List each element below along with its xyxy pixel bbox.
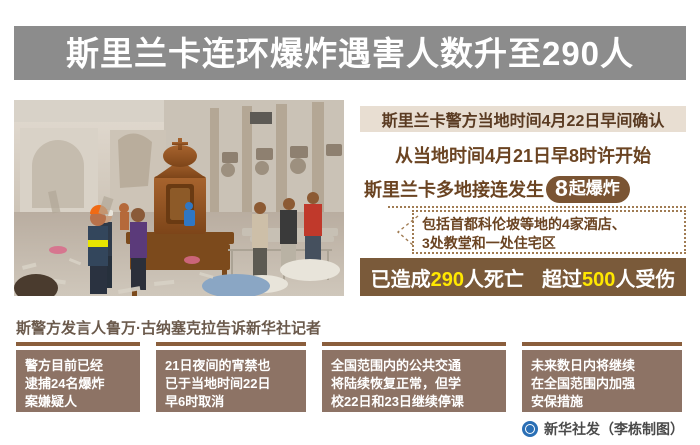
info-box-1-body: 警方目前已经 逮捕24名爆炸 案嫌疑人 xyxy=(16,350,140,412)
info-box-3-line-1: 全国范围内的公共交通 xyxy=(331,357,498,375)
xinhua-logo-icon xyxy=(522,421,538,437)
panel-line-1: 从当地时间4月21日早8时许开始 xyxy=(360,140,686,170)
panel-header-band: 斯里兰卡警方当地时间4月22日早间确认 xyxy=(360,106,686,132)
info-box-2-accent xyxy=(156,342,306,346)
targets-callout-box: 包括首都科伦坡等地的4家酒店、 3处教堂和一处住宅区 xyxy=(412,210,686,254)
info-box-3-line-3: 校22日和23日继续停课 xyxy=(331,393,498,411)
deaths-suffix: 人死亡 xyxy=(464,269,524,291)
spokesperson-quote-line: 斯警方发言人鲁万·古纳塞克拉告诉新华社记者 xyxy=(16,316,576,338)
info-box-4: 未来数日内将继续 在全国范围内加强 安保措施 xyxy=(522,342,682,412)
panel-header-text: 斯里兰卡警方当地时间4月22日早间确认 xyxy=(382,107,665,131)
footer-credit: 新华社发（李栋制图） xyxy=(522,418,684,440)
panel-line-1-text: 从当地时间4月21日早8时许开始 xyxy=(395,142,651,168)
news-photo xyxy=(14,100,344,296)
panel-line-2: 斯里兰卡多地接连发生 8 起爆炸 xyxy=(356,172,690,206)
info-box-2-line-3: 早6时取消 xyxy=(165,393,298,411)
info-box-4-line-2: 在全国范围内加强 xyxy=(531,375,674,393)
info-box-3-body: 全国范围内的公共交通 将陆续恢复正常，但学 校22日和23日继续停课 xyxy=(322,350,506,412)
injuries-stat: 超过500人受伤 xyxy=(542,263,675,292)
info-box-1-line-1: 警方目前已经 xyxy=(25,357,132,375)
dotted-separator xyxy=(388,206,686,208)
explosions-count-badge: 8 起爆炸 xyxy=(546,176,630,203)
explosions-count-number: 8 xyxy=(555,177,568,200)
deaths-stat: 已造成290人死亡 xyxy=(371,263,524,292)
page-title: 斯里兰卡连环爆炸遇害人数升至290人 xyxy=(66,37,634,70)
news-photo-illustration xyxy=(14,100,344,296)
injuries-suffix: 人受伤 xyxy=(615,269,675,291)
info-box-4-accent xyxy=(522,342,682,346)
infographic-canvas: 斯里兰卡连环爆炸遇害人数升至290人 xyxy=(0,0,700,445)
footer-credit-text: 新华社发（李栋制图） xyxy=(544,419,684,439)
callout-line-2: 3处教堂和一处住宅区 xyxy=(422,234,678,253)
info-box-1-accent xyxy=(16,342,140,346)
info-box-3-accent xyxy=(322,342,506,346)
info-box-2: 21日夜间的宵禁也 已于当地时间22日 早6时取消 xyxy=(156,342,306,412)
callout-line-1: 包括首都科伦坡等地的4家酒店、 xyxy=(422,215,678,234)
injuries-prefix: 超过 xyxy=(542,269,582,291)
info-box-2-body: 21日夜间的宵禁也 已于当地时间22日 早6时取消 xyxy=(156,350,306,412)
info-box-4-body: 未来数日内将继续 在全国范围内加强 安保措施 xyxy=(522,350,682,412)
injuries-number: 500 xyxy=(582,269,615,291)
casualty-summary-bar: 已造成290人死亡 超过500人受伤 xyxy=(360,258,686,296)
info-box-1-line-2: 逮捕24名爆炸 xyxy=(25,375,132,393)
info-box-3: 全国范围内的公共交通 将陆续恢复正常，但学 校22日和23日继续停课 xyxy=(322,342,506,412)
info-box-3-line-2: 将陆续恢复正常，但学 xyxy=(331,375,498,393)
info-box-1: 警方目前已经 逮捕24名爆炸 案嫌疑人 xyxy=(16,342,140,412)
info-box-2-line-2: 已于当地时间22日 xyxy=(165,375,298,393)
deaths-number: 290 xyxy=(431,269,464,291)
panel-line-2-text: 斯里兰卡多地接连发生 xyxy=(364,176,544,202)
info-box-2-line-1: 21日夜间的宵禁也 xyxy=(165,357,298,375)
info-box-4-line-1: 未来数日内将继续 xyxy=(531,357,674,375)
deaths-prefix: 已造成 xyxy=(371,269,431,291)
info-box-1-line-3: 案嫌疑人 xyxy=(25,393,132,411)
title-bar: 斯里兰卡连环爆炸遇害人数升至290人 xyxy=(14,26,686,80)
info-box-4-line-3: 安保措施 xyxy=(531,393,674,411)
explosions-count-unit: 起爆炸 xyxy=(569,180,620,197)
